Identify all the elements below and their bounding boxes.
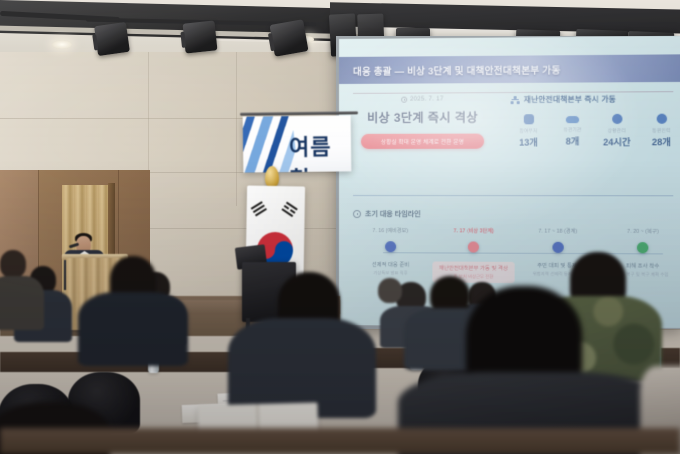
stat-value: 8개 — [550, 134, 594, 147]
slide-right-card-head: 재난안전대책본부 즉시 가동 — [506, 93, 680, 105]
timeline-dot-cell — [432, 241, 516, 252]
stat-value: 28개 — [639, 135, 680, 148]
slide-title: 대응 총괄 — 비상 3단계 및 대책안전대책본부 가동 — [339, 62, 561, 78]
conference-photo: 대응 총괄 — 비상 3단계 및 대책안전대책본부 가동 2025. 7. 17… — [0, 0, 680, 454]
wall-seam — [236, 46, 237, 206]
stat-item: 참여부처 13개 — [506, 114, 550, 149]
timeline-date: 7. 17 ~ 18 (경계) — [516, 227, 601, 234]
slide-right-card: 재난안전대책본부 즉시 가동 참여부처 13개 유관기관 8개 — [506, 93, 680, 149]
building-icon — [523, 114, 533, 124]
trigram-geon — [251, 201, 268, 218]
stat-item: 동원인력 28개 — [639, 114, 680, 149]
slide-left-card: 2025. 7. 17 비상 3단계 즉시 격상 상황실 확대 운영 체계로 전… — [353, 96, 492, 149]
timeline-step-desc: 선제적 대응 준비 — [352, 261, 429, 268]
event-banner: 여름철 — [243, 115, 352, 172]
foreground-table — [0, 428, 680, 454]
stat-label: 유관기관 — [550, 127, 594, 133]
timeline-dot-icon — [468, 241, 479, 252]
timeline-dot-icon — [385, 241, 396, 252]
timeline-date: 7. 20 ~ (복구) — [600, 228, 680, 235]
timeline-title: 초기 대응 타임라인 — [365, 209, 421, 219]
stage-light-fixture — [183, 20, 218, 53]
timeline-step-sub: 기상특보 발표 직후 — [352, 270, 429, 276]
clock-round-icon — [612, 114, 622, 124]
stage-light-fixture — [94, 22, 130, 56]
timeline-dates: 7. 16 (예비경보) 7. 17 (비상 3단계) 7. 17 ~ 18 (… — [349, 227, 680, 235]
cloud-icon — [566, 116, 579, 123]
attendee-head — [378, 278, 402, 303]
attendee-torso — [0, 276, 44, 330]
timeline-dot-icon — [637, 242, 648, 253]
timeline-date: 7. 16 (예비경보) — [349, 227, 432, 234]
timeline-clock-icon — [353, 210, 361, 218]
stage-light-fixture — [269, 19, 308, 56]
stat-item: 상황관리 24시간 — [595, 114, 639, 149]
stat-label: 참여부처 — [506, 128, 550, 134]
flagpole-finial — [265, 166, 279, 188]
timeline-head: 초기 대응 타임라인 — [349, 209, 680, 220]
attendee-torso — [78, 292, 188, 366]
timeline-dot-cell — [516, 242, 601, 253]
timeline-dots — [349, 241, 680, 253]
stat-label: 동원인력 — [639, 128, 680, 134]
stat-label: 상황관리 — [595, 128, 639, 134]
recessed-light-icon — [52, 40, 72, 49]
org-chart-icon — [511, 96, 520, 104]
slide-date-row: 2025. 7. 17 — [353, 96, 492, 103]
timeline-dot-cell — [349, 241, 432, 252]
slide-timeline: 초기 대응 타임라인 7. 16 (예비경보) 7. 17 (비상 3단계) 7… — [349, 209, 680, 284]
slide-date: 2025. 7. 17 — [410, 96, 444, 102]
timeline-dot-cell — [600, 242, 680, 254]
slide-right-card-title: 재난안전대책본부 즉시 가동 — [524, 94, 616, 106]
trigram-gam — [281, 202, 298, 219]
stat-value: 13개 — [506, 135, 550, 148]
timeline-date: 7. 17 (비상 3단계) — [432, 227, 516, 234]
timeline-step-desc: 재난안전대책본부 가동 및 격상 — [434, 264, 512, 271]
timeline-dot-icon — [552, 242, 563, 253]
clock-icon — [401, 97, 407, 103]
slide-headline: 비상 3단계 즉시 격상 — [353, 108, 492, 126]
attendee-head — [0, 250, 26, 278]
stat-value: 24시간 — [595, 135, 639, 148]
slide-stats-row: 참여부처 13개 유관기관 8개 상황관리 24시간 — [506, 114, 680, 149]
slide-title-bar: 대응 총괄 — 비상 3단계 및 대책안전대책본부 가동 — [339, 54, 680, 84]
stat-item: 유관기관 8개 — [550, 114, 594, 149]
slide-status-badge: 상황실 확대 운영 체계로 전환 운영 — [361, 134, 484, 149]
slide-divider — [353, 195, 673, 196]
team-icon — [656, 114, 666, 124]
banner-text: 여름철 — [289, 129, 352, 172]
